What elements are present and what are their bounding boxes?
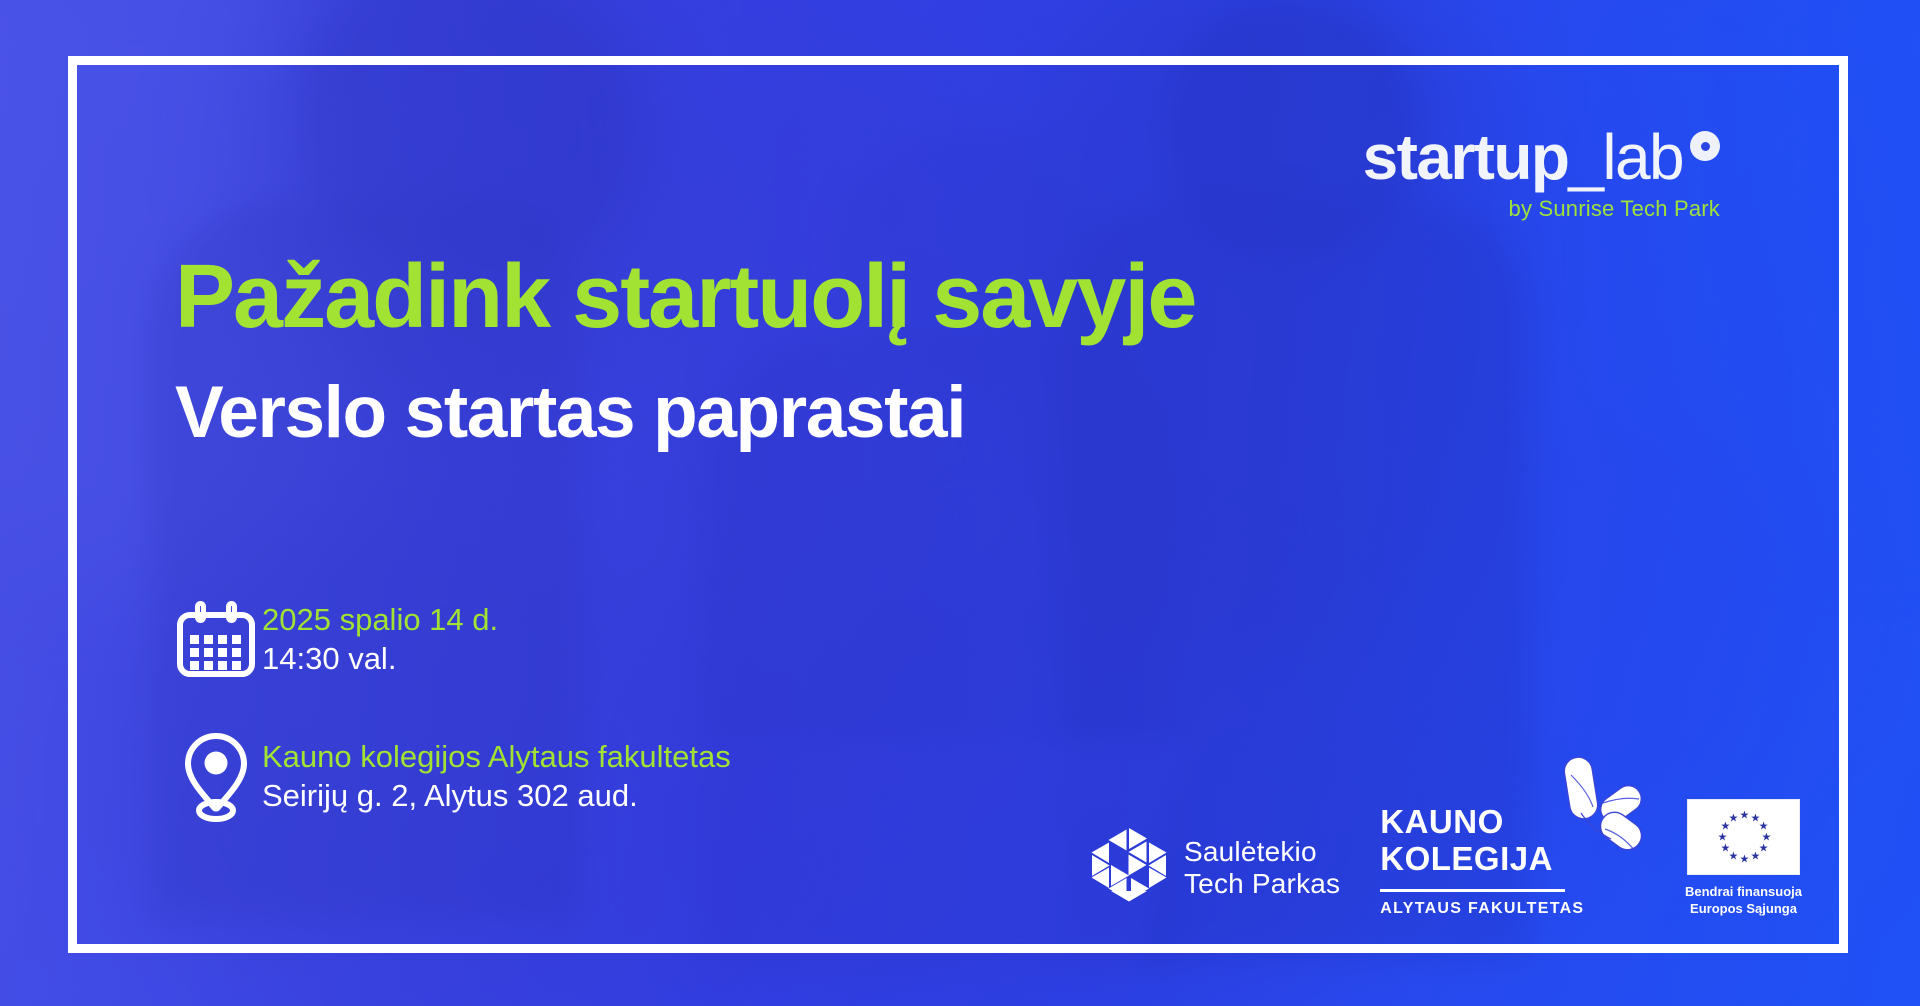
- detail-row-date: 2025 spalio 14 d. 14:30 val.: [170, 600, 731, 678]
- eu-flag-icon: ★★★★★★★★★★★★: [1687, 799, 1800, 875]
- eu-star-icon: ★: [1718, 833, 1728, 844]
- event-time: 14:30 val.: [262, 639, 498, 678]
- eu-star-icon: ★: [1740, 811, 1750, 822]
- hexagon-flower-icon: [1090, 825, 1168, 910]
- logo-tagline: by Sunrise Tech Park: [1363, 198, 1720, 220]
- headline-secondary: Verslo startas paprastai: [175, 375, 965, 452]
- eu-caption-line1: Bendrai finansuoja: [1685, 884, 1802, 901]
- event-details: 2025 spalio 14 d. 14:30 val. Kauno k: [170, 600, 731, 874]
- headline-primary: Pažadink startuolį savyje: [175, 250, 1195, 345]
- detail-row-location: Kauno kolegijos Alytaus fakultetas Seiri…: [170, 730, 731, 822]
- kauno-kolegija-faculty: ALYTAUS FAKULTETAS: [1380, 900, 1584, 918]
- eu-star-icon: ★: [1751, 852, 1761, 863]
- kauno-k-mark-icon: [1559, 755, 1645, 878]
- kauno-kolegija-line2: KOLEGIJA: [1380, 841, 1553, 878]
- kauno-kolegija-line1: KAUNO: [1380, 804, 1553, 841]
- event-poster: startup _lab by Sunrise Tech Park Pažadi…: [0, 0, 1920, 1006]
- eu-star-icon: ★: [1740, 855, 1750, 866]
- eu-star-icon: ★: [1729, 814, 1739, 825]
- eu-funding-logo: ★★★★★★★★★★★★ Bendrai finansuoja Europos …: [1685, 799, 1802, 918]
- sauletekio-tech-parkas-logo: Saulėtekio Tech Parkas: [1090, 825, 1340, 918]
- location-pin-icon: [170, 730, 262, 822]
- calendar-icon: [170, 601, 262, 677]
- logo-word-startup: startup: [1363, 125, 1569, 189]
- circle-dot-icon: [1690, 131, 1720, 161]
- event-venue: Kauno kolegijos Alytaus fakultetas: [262, 737, 731, 776]
- kauno-kolegija-logo: KAUNO KOLEGIJA: [1380, 755, 1645, 918]
- startup-lab-logo: startup _lab by Sunrise Tech Park: [1363, 125, 1720, 220]
- eu-caption-line2: Europos Sąjunga: [1685, 901, 1802, 918]
- eu-star-icon: ★: [1720, 844, 1730, 855]
- partner-logos: Saulėtekio Tech Parkas KAUNO KOLEGIJA: [1090, 755, 1802, 918]
- sauletekio-line2: Tech Parkas: [1184, 868, 1340, 900]
- sauletekio-line1: Saulėtekio: [1184, 836, 1340, 868]
- logo-word-lab: _lab: [1568, 125, 1683, 189]
- event-address: Seirijų g. 2, Alytus 302 aud.: [262, 776, 731, 815]
- kauno-kolegija-divider: [1380, 889, 1565, 892]
- event-date: 2025 spalio 14 d.: [262, 600, 498, 639]
